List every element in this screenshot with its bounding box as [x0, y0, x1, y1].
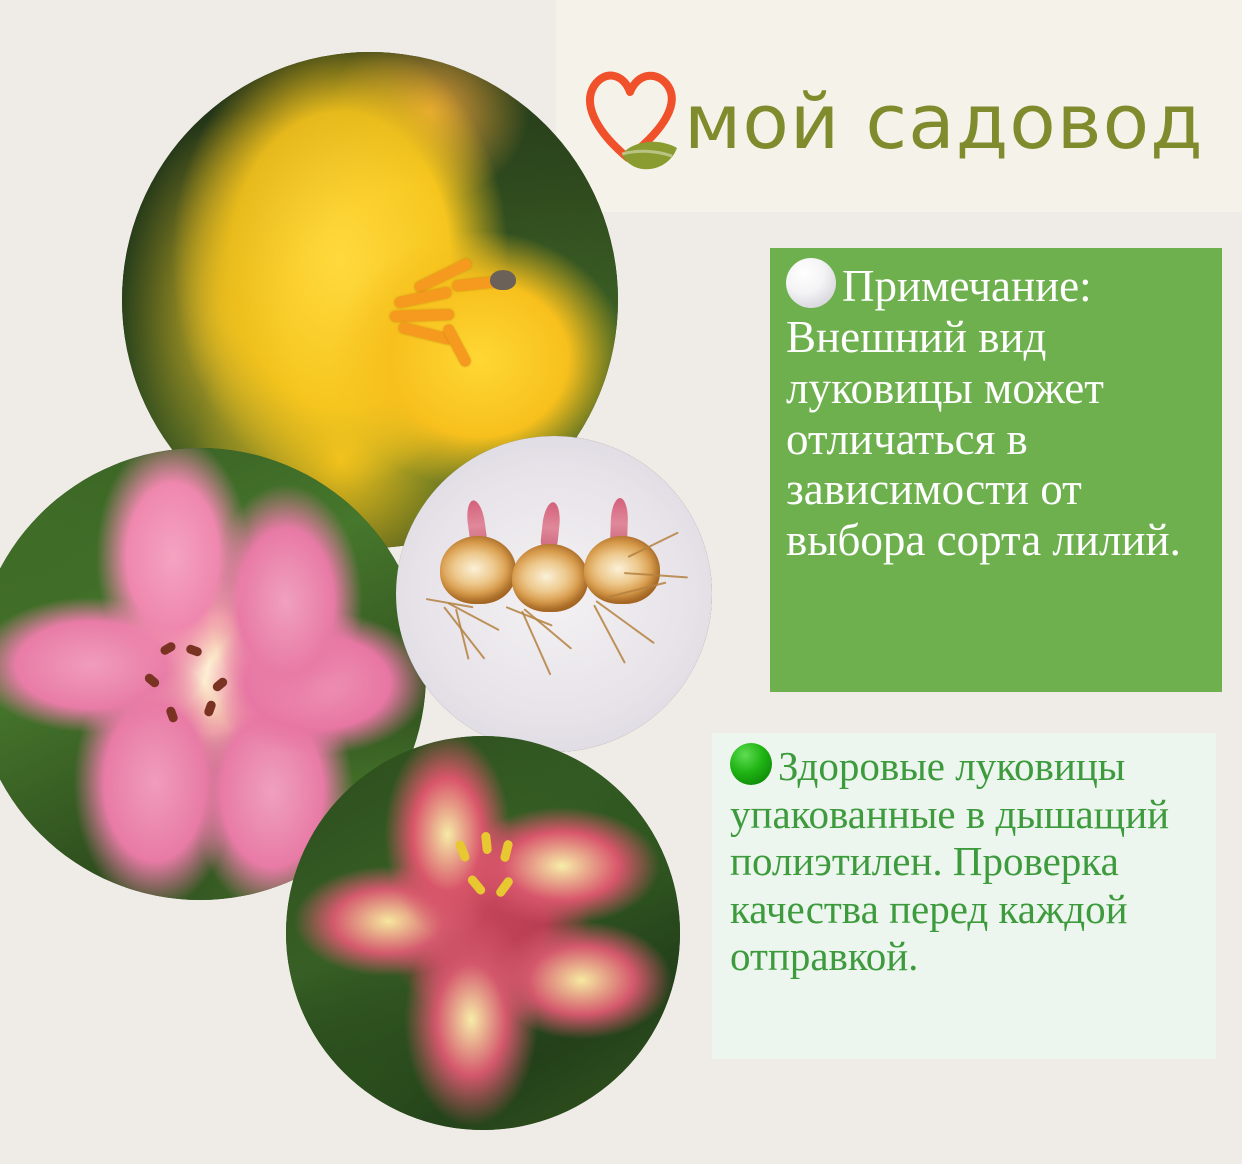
note-mint-text: Здоровые луковицы упакованные в дышащий …: [730, 743, 1169, 979]
brand-logo[interactable]: мой садовод: [578, 52, 1242, 192]
white-circle-bullet-icon: [786, 258, 836, 308]
bulb: [440, 536, 516, 604]
anther: [165, 705, 179, 723]
anther: [211, 676, 229, 693]
anther: [185, 644, 203, 658]
bulb: [512, 544, 588, 612]
anther: [203, 699, 217, 717]
bulb-root: [443, 606, 485, 659]
anther: [159, 641, 177, 657]
anther: [143, 672, 161, 689]
lily-bulbs-image: [396, 436, 712, 752]
stamen: [481, 832, 492, 855]
note-mint-content: Здоровые луковицы упакованные в дышащий …: [730, 743, 1202, 981]
logo-panel: мой садовод: [556, 0, 1242, 212]
note-green-text: Примечание: Внешний вид луковицы может о…: [786, 261, 1181, 565]
stamen: [390, 309, 454, 322]
bulb-root: [593, 605, 626, 664]
bicolor-lily-image: [286, 736, 680, 1130]
stamen: [441, 323, 472, 369]
note-mint-box: Здоровые луковицы упакованные в дышащий …: [712, 733, 1216, 1059]
stamen: [454, 839, 471, 863]
stamen: [499, 839, 513, 863]
bulb-sprout: [540, 501, 562, 549]
green-circle-bullet-icon: [730, 743, 772, 785]
stamen: [494, 875, 514, 898]
note-green-content: Примечание: Внешний вид луковицы может о…: [786, 258, 1206, 566]
logo-wordmark: мой садовод: [684, 84, 1204, 160]
bulb-root: [455, 609, 470, 660]
stamen: [466, 874, 487, 897]
leaf-icon: [622, 142, 677, 170]
pistil: [490, 270, 516, 290]
promo-image-canvas: мой садовод: [0, 0, 1242, 1164]
note-green-box: Примечание: Внешний вид луковицы может о…: [770, 248, 1222, 692]
lily-bulbs-photo: [396, 436, 712, 752]
bulb-root: [448, 602, 500, 631]
bicolor-lily-photo: [286, 736, 680, 1130]
